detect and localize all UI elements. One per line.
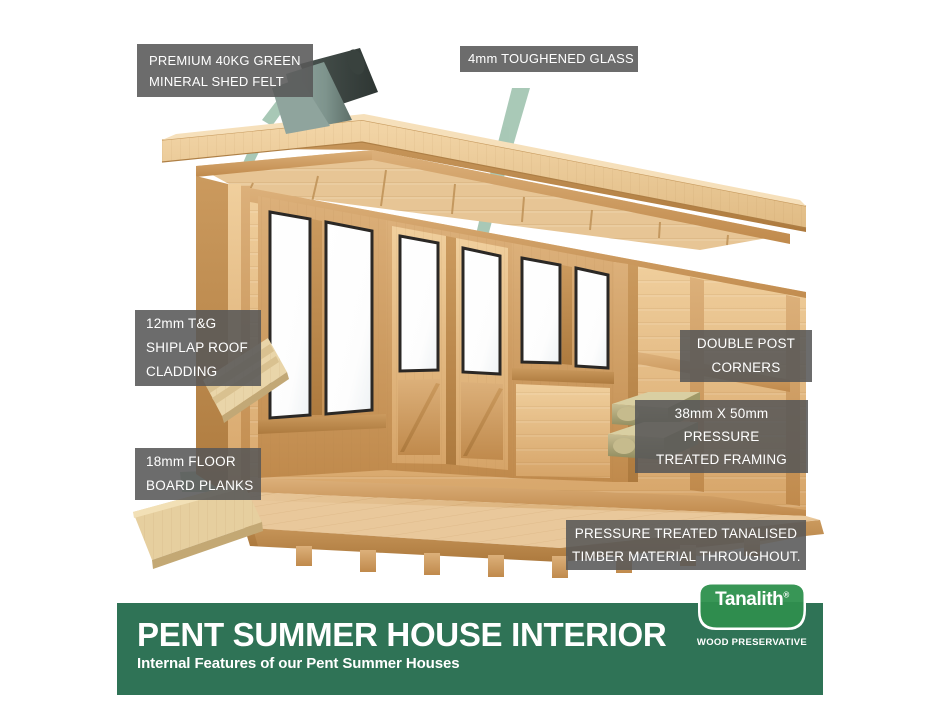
callout-pressure-treated-framing: 38mm X 50mm PRESSURE TREATED FRAMING (635, 400, 808, 473)
callout-floor-board-planks: 18mm FLOOR BOARD PLANKS (135, 448, 261, 500)
callout-line: 18mm FLOOR (146, 450, 250, 474)
tanalith-tagline: WOOD PRESERVATIVE (694, 637, 810, 648)
callout-shiplap-roof-cladding: 12mm T&G SHIPLAP ROOF CLADDING (135, 310, 261, 386)
callout-line: MINERAL SHED FELT (149, 71, 301, 92)
tanalith-logo: Tanalith® WOOD PRESERVATIVE (694, 580, 810, 655)
callout-line: PRESSURE TREATED TANALISED (572, 522, 800, 545)
tanalith-wordmark: Tanalith® (694, 589, 810, 611)
page-title: PENT SUMMER HOUSE INTERIOR (137, 616, 666, 654)
callout-line: 12mm T&G (146, 312, 250, 336)
callout-line: PREMIUM 40KG GREEN (149, 50, 301, 71)
callout-line: SHIPLAP ROOF (146, 336, 250, 360)
callout-line: BOARD PLANKS (146, 474, 250, 498)
callout-line: TREATED FRAMING (641, 448, 802, 471)
callout-double-post-corners: DOUBLE POST CORNERS (680, 330, 812, 382)
callout-line: PRESSURE (641, 425, 802, 448)
callout-line: DOUBLE POST (688, 332, 804, 356)
product-feature-diagram: PREMIUM 40KG GREEN MINERAL SHED FELT 4mm… (0, 0, 940, 705)
callout-line: CLADDING (146, 360, 250, 384)
callout-tanalised-timber-throughout: PRESSURE TREATED TANALISED TIMBER MATERI… (566, 520, 806, 570)
callout-line: 4mm TOUGHENED GLASS (468, 46, 630, 72)
registered-mark-icon: ® (783, 591, 789, 600)
callout-line: CORNERS (688, 356, 804, 380)
callout-line: TIMBER MATERIAL THROUGHOUT. (572, 545, 800, 568)
brand-name: Tanalith (715, 589, 783, 610)
callout-toughened-glass: 4mm TOUGHENED GLASS (460, 46, 638, 72)
callout-premium-shed-felt: PREMIUM 40KG GREEN MINERAL SHED FELT (137, 44, 313, 97)
page-subtitle: Internal Features of our Pent Summer Hou… (137, 655, 459, 672)
callout-line: 38mm X 50mm (641, 402, 802, 425)
